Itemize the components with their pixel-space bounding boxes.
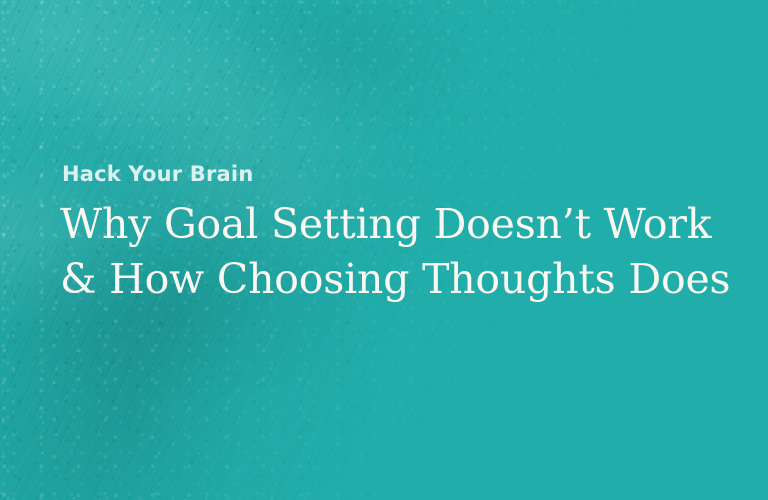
- banner-headline: Why Goal Setting Doesn’t Work & How Choo…: [60, 197, 730, 306]
- banner-headline-line-1: Why Goal Setting Doesn’t Work: [60, 197, 730, 252]
- banner-headline-line-2: & How Choosing Thoughts Does: [60, 252, 730, 307]
- banner-text-block: Hack Your Brain Why Goal Setting Doesn’t…: [60, 164, 730, 306]
- banner-kicker: Hack Your Brain: [62, 164, 730, 185]
- blog-header-banner: Hack Your Brain Why Goal Setting Doesn’t…: [0, 0, 768, 500]
